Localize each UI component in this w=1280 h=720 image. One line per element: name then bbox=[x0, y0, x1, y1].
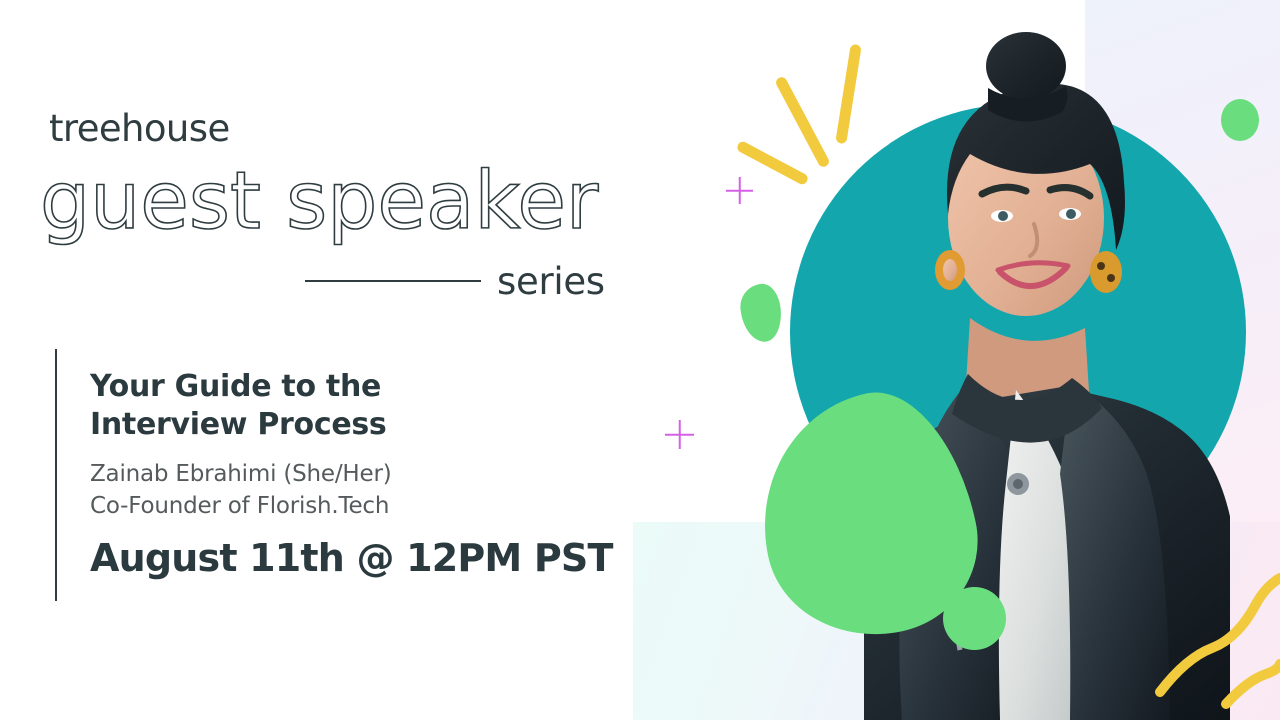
slide-canvas: treehouse guest speaker series Your Guid… bbox=[0, 0, 1280, 720]
green-circle-bottom-shape bbox=[943, 587, 1006, 650]
plus-icon bbox=[665, 420, 694, 449]
plus-icon bbox=[726, 177, 753, 204]
accent-vertical-rule bbox=[55, 349, 57, 601]
event-datetime: August 11th @ 12PM PST bbox=[90, 538, 630, 580]
green-bean-shape bbox=[738, 282, 784, 344]
green-circle-top-right-shape bbox=[1221, 99, 1259, 141]
page-title-outline: guest speaker bbox=[40, 160, 598, 243]
speaker-role: Co-Founder of Florish.Tech bbox=[90, 491, 630, 523]
event-details: Your Guide to the Interview Process Zain… bbox=[90, 368, 630, 580]
talk-title: Your Guide to the Interview Process bbox=[90, 368, 630, 445]
brand-wordmark: treehouse bbox=[49, 110, 230, 147]
series-label: series bbox=[497, 263, 605, 300]
talk-title-line-2: Interview Process bbox=[90, 406, 630, 444]
talk-title-line-1: Your Guide to the bbox=[90, 368, 630, 406]
series-row: series bbox=[305, 258, 625, 304]
speaker-block: Zainab Ebrahimi (She/Her) Co-Founder of … bbox=[90, 459, 630, 522]
wavy-lines-icon bbox=[1140, 570, 1280, 720]
series-divider bbox=[305, 280, 481, 282]
speaker-name: Zainab Ebrahimi (She/Her) bbox=[90, 459, 630, 491]
